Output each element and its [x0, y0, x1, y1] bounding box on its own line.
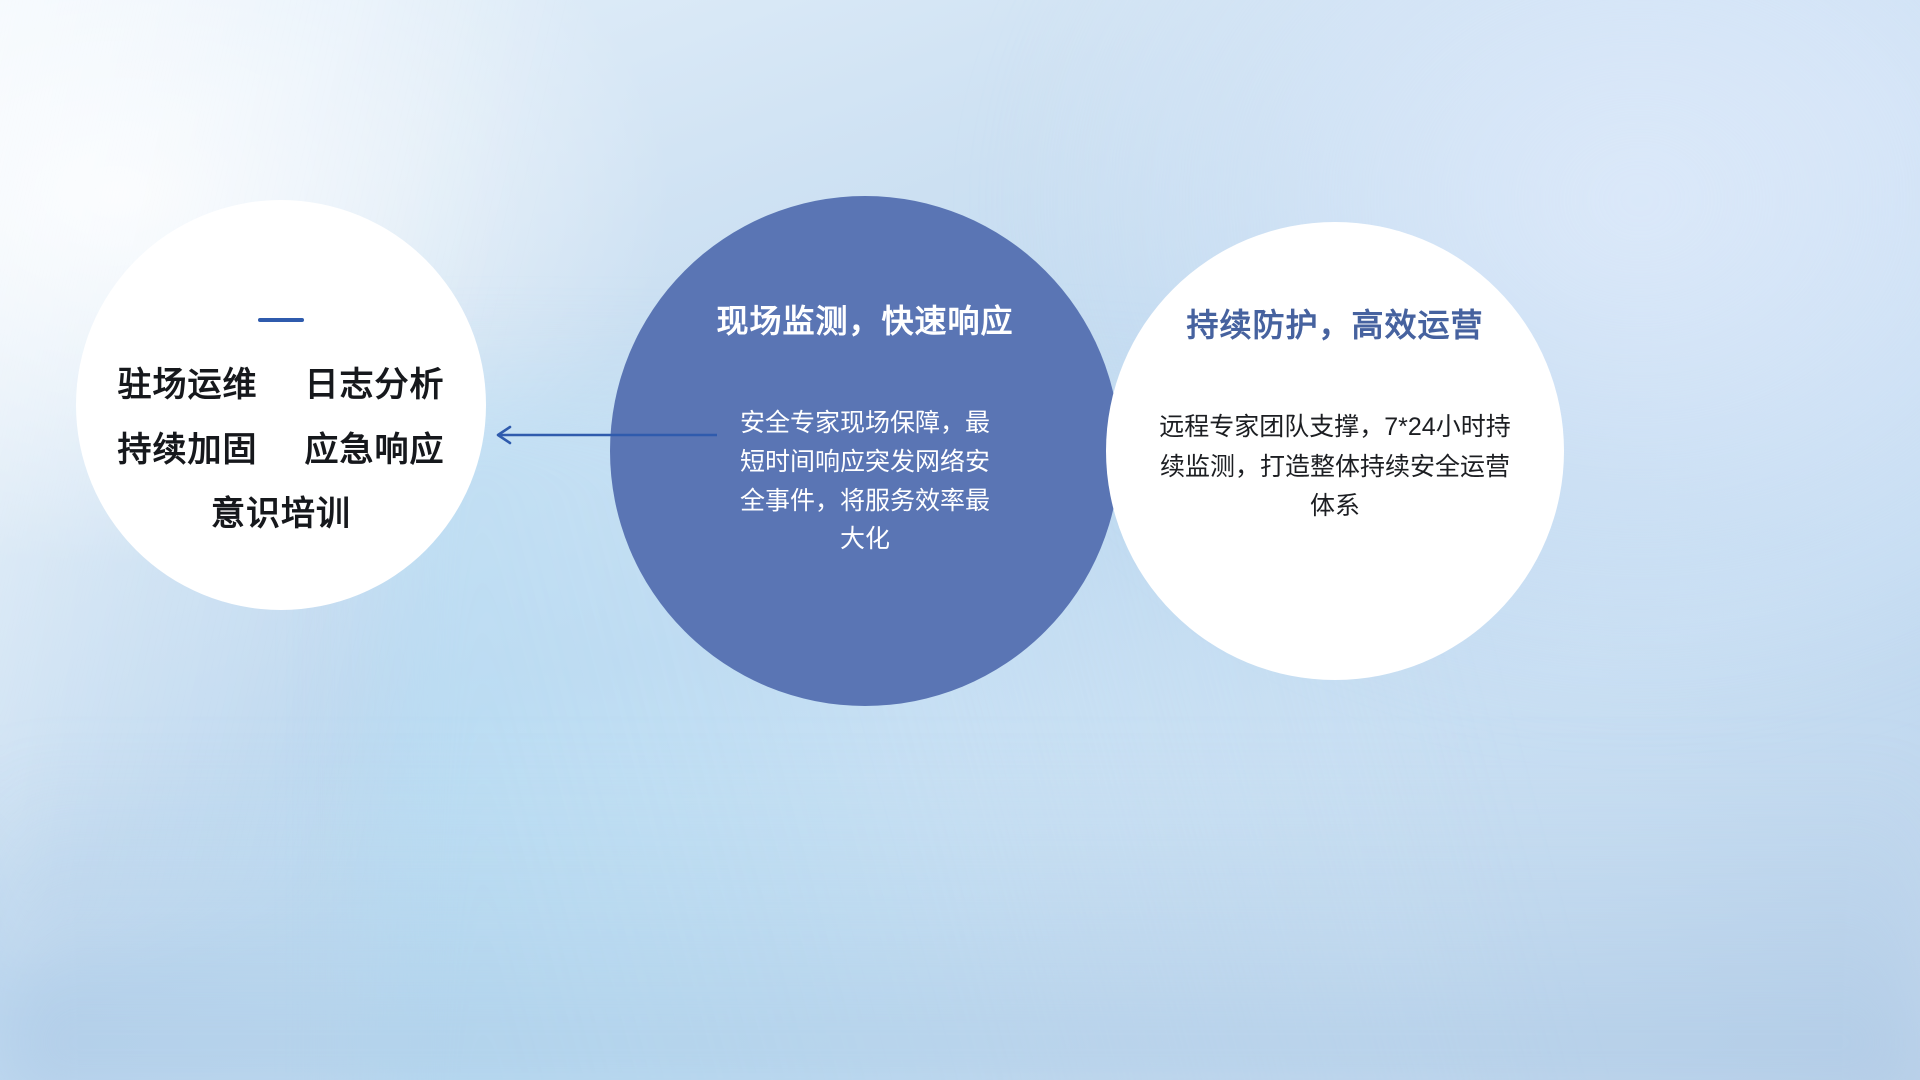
left-circle-tag-4: 应急响应 [304, 431, 444, 469]
left-circle-tag-2: 日志分析 [304, 366, 444, 404]
arrow-left-icon [488, 422, 718, 448]
slide-canvas: 驻场运维 日志分析 持续加固 应急响应 意识培训 现场监测，快速响应 安全专家现… [0, 0, 1920, 1080]
left-circle-content: 驻场运维 日志分析 持续加固 应急响应 意识培训 [76, 200, 486, 610]
middle-circle-content: 现场监测，快速响应 安全专家现场保障，最短时间响应突发网络安全事件，将服务效率最… [610, 196, 1120, 706]
left-circle-tag-3: 持续加固 [118, 431, 258, 469]
right-circle-body: 远程专家团队支撑，7*24小时持续监测，打造整体持续安全运营体系 [1155, 408, 1515, 527]
right-circle-content: 持续防护，高效运营 远程专家团队支撑，7*24小时持续监测，打造整体持续安全运营… [1106, 222, 1564, 680]
left-circle-row-2: 持续加固 应急响应 [118, 433, 445, 469]
left-circle-tag-1: 驻场运维 [118, 366, 258, 404]
background-light-streak-bottom [0, 760, 1920, 1080]
middle-service-circle[interactable]: 现场监测，快速响应 安全专家现场保障，最短时间响应突发网络安全事件，将服务效率最… [610, 196, 1120, 706]
right-service-circle[interactable]: 持续防护，高效运营 远程专家团队支撑，7*24小时持续监测，打造整体持续安全运营… [1106, 222, 1564, 680]
left-circle-row-3: 意识培训 [211, 497, 351, 533]
right-circle-heading: 持续防护，高效运营 [1186, 300, 1483, 346]
middle-circle-heading: 现场监测，快速响应 [716, 296, 1013, 342]
left-circle-row-1: 驻场运维 日志分析 [118, 368, 445, 404]
divider-line [258, 318, 304, 322]
left-circle-tag-5: 意识培训 [211, 495, 351, 533]
left-service-circle[interactable]: 驻场运维 日志分析 持续加固 应急响应 意识培训 [76, 200, 486, 610]
middle-circle-body: 安全专家现场保障，最短时间响应突发网络安全事件，将服务效率最大化 [731, 404, 999, 559]
